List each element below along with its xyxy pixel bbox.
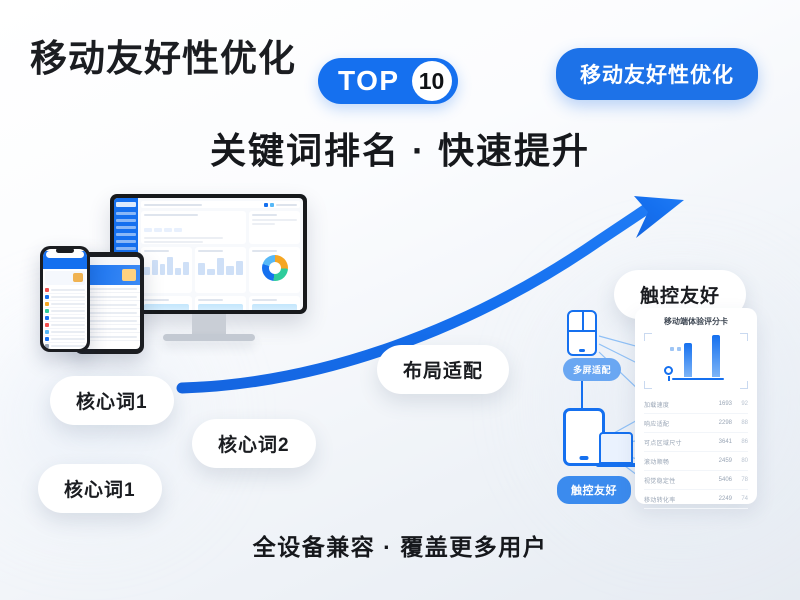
score-row-name: 移动转化率 bbox=[644, 495, 706, 504]
poster-canvas: 移动友好性优化 TOP 10 移动友好性优化 关键词排名 · 快速提升 bbox=[0, 0, 800, 600]
score-row-value: 2249 bbox=[706, 496, 732, 502]
dashboard-topbar bbox=[141, 201, 300, 208]
score-card-rows: 加载速度169392响应适配229888可点区域尺寸364186滚动顺畅2459… bbox=[644, 395, 748, 509]
score-row-score: 86 bbox=[732, 439, 748, 445]
score-row-name: 滚动顺畅 bbox=[644, 457, 706, 466]
score-row-value: 1693 bbox=[706, 401, 732, 407]
monitor-stand-base bbox=[163, 334, 255, 341]
keyword-pill-3[interactable]: 核心词1 bbox=[38, 464, 162, 513]
score-card-visual bbox=[644, 333, 748, 389]
score-row-value: 5406 bbox=[706, 477, 732, 483]
score-row-score: 88 bbox=[732, 420, 748, 426]
score-row-name: 视觉稳定性 bbox=[644, 476, 706, 485]
layout-adaptation-pill[interactable]: 布局适配 bbox=[377, 345, 509, 394]
dashboard-body bbox=[138, 198, 303, 310]
touch-friendly-tag: 触控友好 bbox=[557, 476, 631, 504]
mobile-experience-illustration: 多屏适配 触控友好 移动端体验评分卡 加载速度169392响应适配229888可… bbox=[555, 300, 787, 512]
location-pin-icon bbox=[664, 366, 673, 375]
keyword-pill-1[interactable]: 核心词1 bbox=[50, 376, 174, 425]
score-card-row: 加载速度169392 bbox=[644, 395, 748, 414]
score-row-score: 80 bbox=[732, 458, 748, 464]
header-pill-badge: 移动友好性优化 bbox=[556, 48, 758, 100]
score-card-row: 移动转化率224974 bbox=[644, 490, 748, 509]
footer-caption: 全设备兼容 · 覆盖更多用户 bbox=[0, 528, 800, 562]
score-row-value: 3641 bbox=[706, 439, 732, 445]
keyword-pill-2[interactable]: 核心词2 bbox=[192, 419, 316, 468]
phone-device bbox=[40, 246, 90, 352]
phone-promo-card bbox=[45, 271, 85, 285]
score-row-score: 78 bbox=[732, 477, 748, 483]
page-title: 移动友好性优化 bbox=[30, 28, 296, 82]
donut-chart bbox=[262, 255, 288, 281]
phone-header bbox=[43, 251, 87, 269]
score-card-title: 移动端体验评分卡 bbox=[644, 316, 748, 327]
mini-laptop-icon bbox=[599, 432, 633, 464]
score-row-name: 响应适配 bbox=[644, 419, 706, 428]
score-card-row: 视觉稳定性540678 bbox=[644, 471, 748, 490]
top-badge-word: TOP bbox=[338, 65, 400, 97]
score-row-name: 加载速度 bbox=[644, 400, 706, 409]
phone-screen bbox=[43, 249, 87, 349]
top-rank-badge: TOP 10 bbox=[318, 58, 458, 104]
score-card-row: 滚动顺畅245980 bbox=[644, 452, 748, 471]
device-mockup-group bbox=[22, 190, 342, 395]
score-row-name: 可点区域尺寸 bbox=[644, 438, 706, 447]
score-row-score: 92 bbox=[732, 401, 748, 407]
dashboard-cards bbox=[141, 211, 300, 310]
mini-phone-icon bbox=[567, 310, 597, 356]
mobile-score-card: 移动端体验评分卡 加载速度169392响应适配229888可点区域尺寸36418… bbox=[635, 308, 757, 504]
phone-notch bbox=[56, 248, 74, 253]
score-card-row: 可点区域尺寸364186 bbox=[644, 433, 748, 452]
multi-screen-tag: 多屏适配 bbox=[563, 358, 621, 381]
score-card-row: 响应适配229888 bbox=[644, 414, 748, 433]
score-row-value: 2298 bbox=[706, 420, 732, 426]
page-subtitle: 关键词排名 · 快速提升 bbox=[0, 122, 800, 174]
monitor-stand-neck bbox=[192, 314, 226, 334]
score-row-value: 2459 bbox=[706, 458, 732, 464]
top-badge-number: 10 bbox=[412, 61, 452, 101]
score-row-score: 74 bbox=[732, 496, 748, 502]
